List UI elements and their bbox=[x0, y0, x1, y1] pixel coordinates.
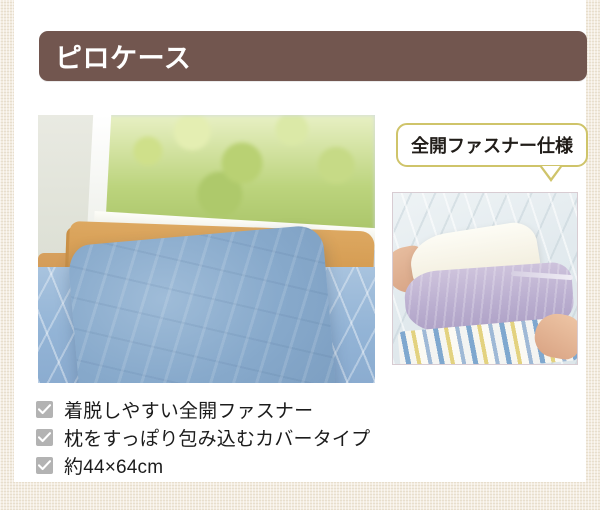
section-header-bar: ピロケース bbox=[39, 31, 587, 81]
feature-callout-label: 全開ファスナー仕様 bbox=[398, 132, 586, 158]
check-icon bbox=[36, 401, 53, 418]
feature-label: 着脱しやすい全開ファスナー bbox=[64, 396, 313, 423]
blue-pillow bbox=[67, 224, 338, 383]
content-panel: ピロケース 全開ファスナー仕様 bbox=[14, 0, 586, 482]
feature-label: 枕をすっぽり包み込むカバータイプ bbox=[64, 424, 370, 451]
main-product-photo bbox=[38, 115, 375, 383]
list-item: 枕をすっぽり包み込むカバータイプ bbox=[36, 424, 436, 450]
product-section-page: ピロケース 全開ファスナー仕様 bbox=[0, 0, 600, 510]
feature-callout-bubble: 全開ファスナー仕様 bbox=[396, 123, 588, 167]
check-icon bbox=[36, 457, 53, 474]
page-title: ピロケース bbox=[55, 37, 191, 76]
check-icon bbox=[36, 429, 53, 446]
list-item: 約44×64cm bbox=[36, 452, 436, 478]
feature-label: 約44×64cm bbox=[64, 452, 163, 479]
feature-list: 着脱しやすい全開ファスナー 枕をすっぽり包み込むカバータイプ 約44×64cm bbox=[36, 396, 436, 480]
bubble-tail-inner bbox=[542, 166, 560, 178]
list-item: 着脱しやすい全開ファスナー bbox=[36, 396, 436, 422]
zipper-detail-photo bbox=[392, 192, 578, 365]
